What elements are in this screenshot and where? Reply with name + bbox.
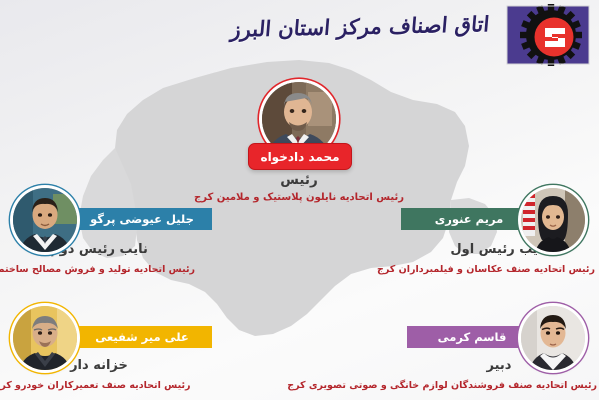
president-name: محمد دادخواه: [261, 150, 340, 164]
organization-treasurer: رئیس اتحادیه صنف تعمیرکاران خودرو کرج: [0, 380, 208, 391]
person-name: قاسم کرمی: [439, 330, 508, 344]
avatar-jalil-eyvazi-pargoo: [14, 188, 78, 252]
person-card-vice-president-first[interactable]: مریم عنوری نایب رئیس اول رئیس اتحادیه صن…: [390, 180, 600, 290]
namebar-jalil-eyvazi-pargoo: جلیل عیوضی پرگو: [66, 208, 213, 230]
person-card-vice-president-second[interactable]: جلیل عیوضی پرگو نایب رئیس دوم رئیس اتحاد…: [0, 180, 210, 290]
organization-vice-president-first: رئیس اتحادیه صنف عکاسان و فیلمبرداران کر…: [372, 264, 600, 275]
person-name: علی میر شفیعی: [96, 330, 190, 344]
avatar-maryam-anvari: [522, 188, 586, 252]
organization-vice-president-second: رئیس اتحادیه تولید و فروش مصالح ساختمانی…: [0, 264, 196, 275]
namebar-ali-mir-shafiei: علی میر شفیعی: [66, 326, 213, 348]
avatar-ali-mir-shafiei: [14, 306, 78, 370]
person-name: جلیل عیوضی پرگو: [91, 212, 195, 226]
person-card-secretary[interactable]: قاسم کرمی دبیر رئیس اتحادیه صنف فروشندگا…: [390, 300, 600, 400]
person-card-treasurer[interactable]: علی میر شفیعی خزانه دار رئیس اتحادیه صنف…: [0, 300, 210, 400]
president-name-badge: محمد دادخواه: [249, 143, 353, 170]
person-name: مریم عنوری: [436, 212, 505, 226]
infographic-canvas: اتاق اصناف مرکز استان البرز: [0, 0, 600, 400]
organization-secretary: رئیس اتحادیه صنف فروشندگان لوازم خانگی و…: [298, 380, 598, 391]
avatar-ghasem-karami: [522, 306, 586, 370]
